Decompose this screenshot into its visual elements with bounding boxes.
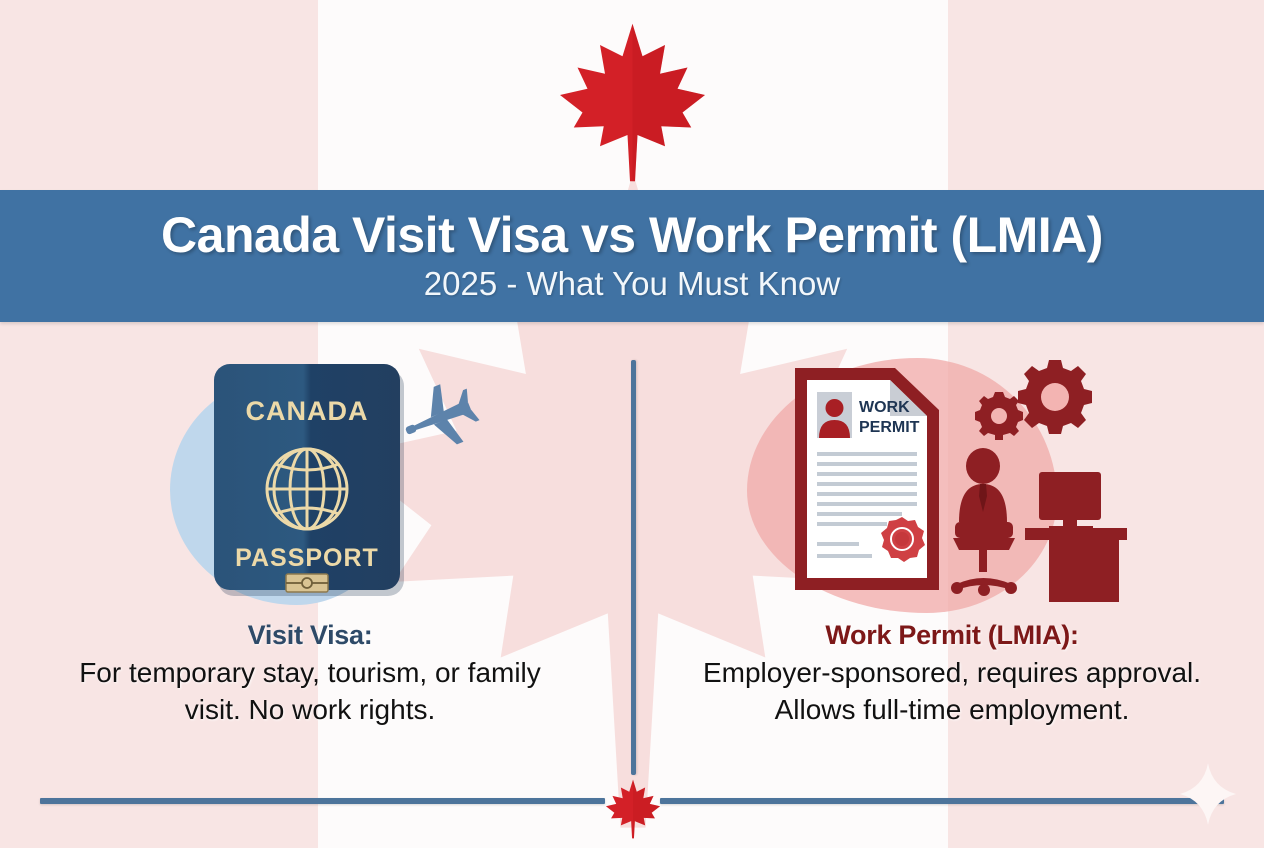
document-title-line1: WORK [859,399,910,416]
document-title-line2: PERMIT [859,419,920,436]
person-photo-placeholder-icon [817,392,852,438]
office-worker-desk-icon [951,448,1127,602]
work-permit-heading: Work Permit (LMIA): [692,620,1212,651]
gear-small-icon [975,392,1023,440]
bottom-divider-right [660,798,1224,804]
work-permit-document-icon: WORK PERMIT [795,368,939,590]
page-title: Canada Visit Visa vs Work Permit (LMIA) [161,209,1103,262]
center-divider [631,360,636,775]
column-work-permit: WORK PERMIT [672,340,1232,729]
work-permit-composite-icon: WORK PERMIT [787,354,1127,604]
column-visit-visa: CANADA PASSPORT [30,340,590,729]
maple-leaf-small-icon [605,775,661,843]
bottom-divider-left [40,798,605,804]
title-banner: Canada Visit Visa vs Work Permit (LMIA) … [0,190,1264,322]
passport-label: PASSPORT [235,544,379,572]
visit-visa-heading: Visit Visa: [50,620,570,651]
sparkle-icon [1180,763,1236,825]
passport-icon: CANADA PASSPORT [214,364,409,599]
gear-large-icon [1018,360,1092,434]
globe-icon [267,449,347,529]
biometric-chip-icon [286,574,328,592]
visit-visa-caption: Visit Visa: For temporary stay, tourism,… [50,620,570,729]
work-permit-body: Employer-sponsored, requires approval. A… [692,655,1212,729]
work-permit-caption: Work Permit (LMIA): Employer-sponsored, … [692,620,1212,729]
work-permit-artwork: WORK PERMIT [672,340,1232,620]
passport-country-label: CANADA [246,396,369,426]
maple-leaf-icon [555,20,710,185]
visit-visa-artwork: CANADA PASSPORT [30,340,590,620]
infographic-canvas: Canada Visit Visa vs Work Permit (LMIA) … [0,0,1264,848]
airplane-icon [402,382,482,454]
page-subtitle: 2025 - What You Must Know [424,265,840,303]
visit-visa-body: For temporary stay, tourism, or family v… [50,655,570,729]
